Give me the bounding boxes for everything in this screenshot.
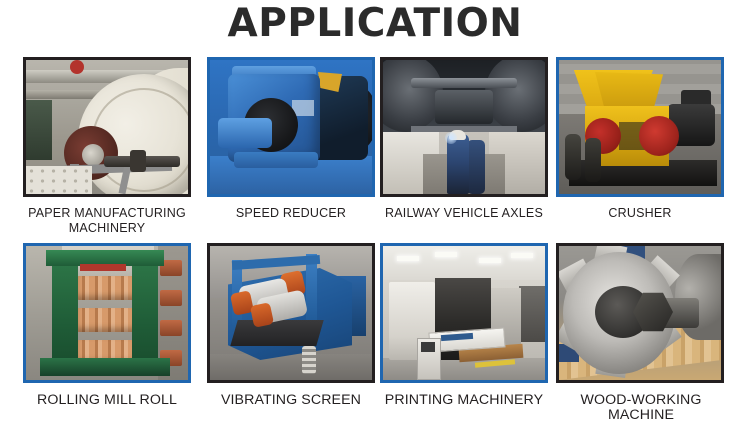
railway-vehicle-axles-photo[interactable] (380, 57, 548, 197)
application-card-paper-manufacturing-machinery[interactable]: PAPER MANUFACTURING MACHINERY (23, 57, 191, 236)
application-card-label: WOOD-WORKING MACHINE (546, 393, 736, 423)
speed-reducer-photo[interactable] (207, 57, 375, 197)
paper-manufacturing-machinery-photo[interactable] (23, 57, 191, 197)
application-card-speed-reducer[interactable]: SPEED REDUCER (207, 57, 375, 221)
application-card-label: SPEED REDUCER (203, 206, 379, 221)
gallery-row: PAPER MANUFACTURING MACHINERY (0, 57, 750, 243)
application-card-printing-machinery[interactable]: PRINTING MACHINERY (380, 243, 548, 408)
application-card-label: RAILWAY VEHICLE AXLES (376, 206, 552, 221)
printing-machinery-photo[interactable] (380, 243, 548, 383)
gallery-row: ROLLING MILL ROLL (0, 243, 750, 429)
application-card-crusher[interactable]: CRUSHER (556, 57, 724, 221)
application-card-vibrating-screen[interactable]: VIBRATING SCREEN (207, 243, 375, 408)
application-card-label: ROLLING MILL ROLL (19, 393, 195, 408)
application-card-railway-vehicle-axles[interactable]: RAILWAY VEHICLE AXLES (380, 57, 548, 221)
application-grid: PAPER MANUFACTURING MACHINERY (0, 57, 750, 429)
vibrating-screen-photo[interactable] (207, 243, 375, 383)
application-card-label: CRUSHER (552, 206, 728, 221)
application-card-label: PRINTING MACHINERY (376, 393, 552, 408)
wood-working-machine-photo[interactable] (556, 243, 724, 383)
rolling-mill-roll-photo[interactable] (23, 243, 191, 383)
application-card-rolling-mill-roll[interactable]: ROLLING MILL ROLL (23, 243, 191, 408)
application-card-label: VIBRATING SCREEN (203, 393, 379, 408)
crusher-photo[interactable] (556, 57, 724, 197)
application-gallery-page: APPLICATION (0, 0, 750, 441)
application-card-wood-working-machine[interactable]: WOOD-WORKING MACHINE (556, 243, 724, 423)
application-card-label: PAPER MANUFACTURING MACHINERY (19, 206, 195, 236)
page-title: APPLICATION (0, 2, 750, 46)
